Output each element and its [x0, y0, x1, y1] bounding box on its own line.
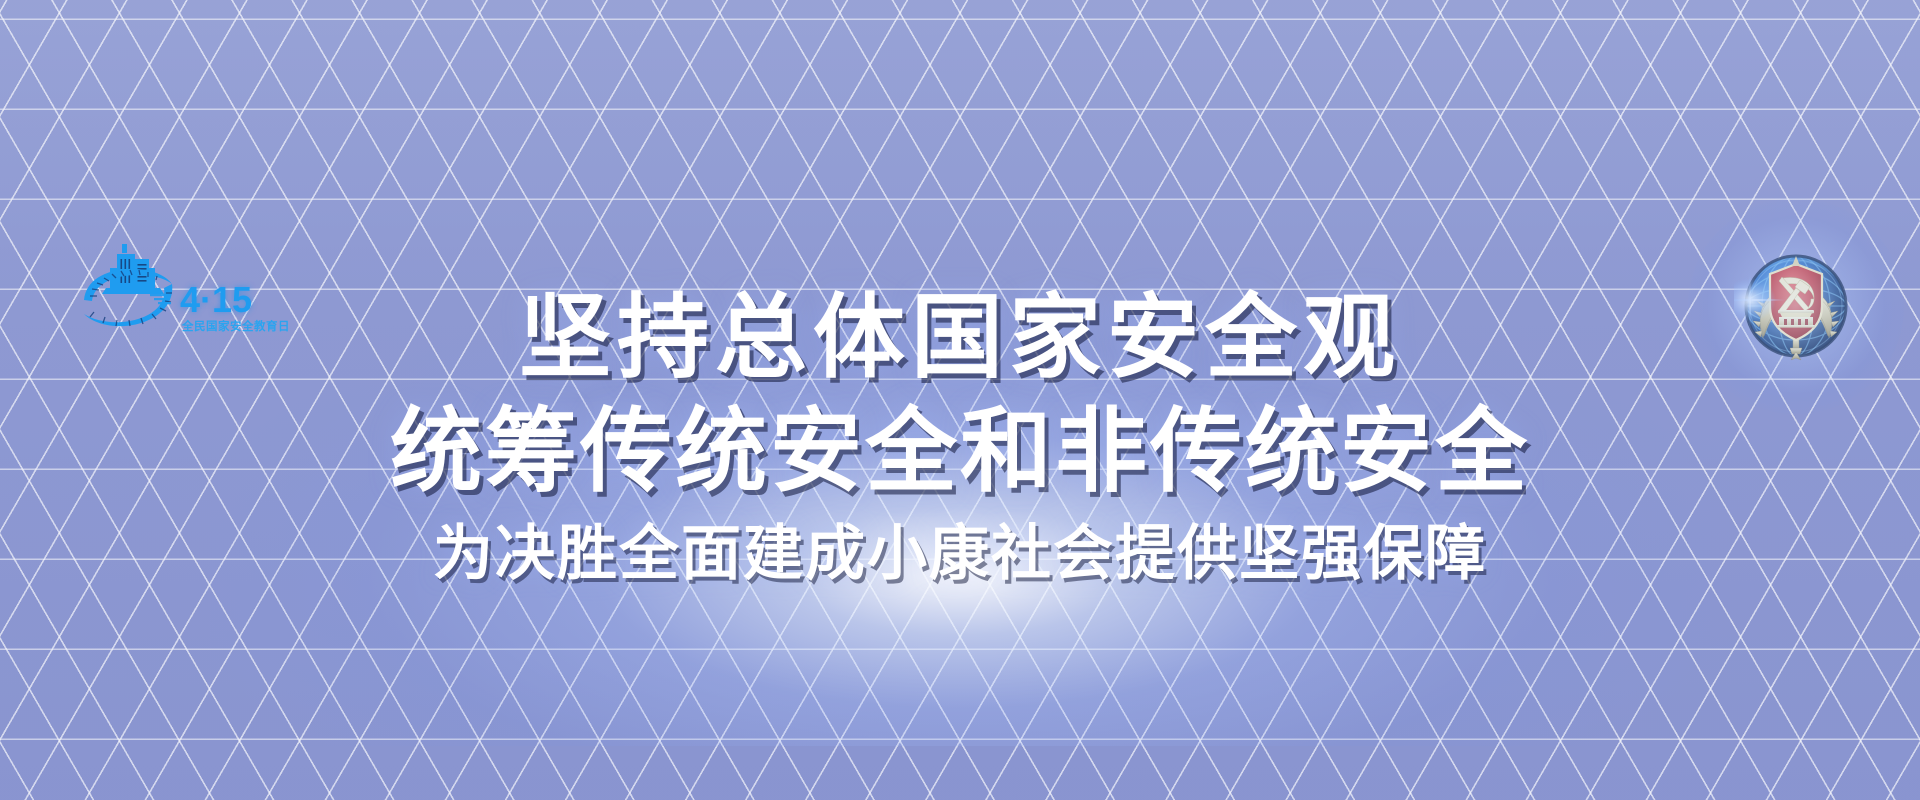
- headline-block: 坚持总体国家安全观 统筹传统安全和非传统安全 为决胜全面建成小康社会提供坚强保障: [0, 292, 1920, 584]
- emblem-halo: [1688, 198, 1904, 414]
- police-emblem: [1734, 244, 1858, 368]
- headline-line-3: 为决胜全面建成小康社会提供坚强保障: [0, 524, 1920, 584]
- headline-line-2: 统筹传统安全和非传统安全: [0, 406, 1920, 498]
- headline-line-1: 坚持总体国家安全观: [0, 292, 1920, 384]
- security-education-day-banner: 4·15 全民国家安全教育日 坚持总体国家安全观 统筹传统安全和非传统安全 为决…: [0, 0, 1920, 800]
